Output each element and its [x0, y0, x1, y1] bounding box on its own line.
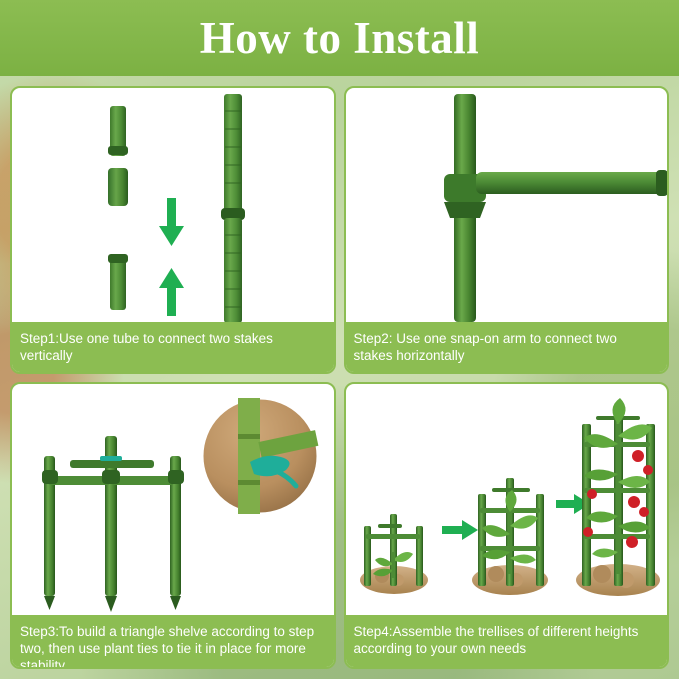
horizontal-snap-on-arm: [476, 170, 668, 196]
down-arrow-icon: [159, 198, 184, 246]
magnifier-detail-icon: [202, 398, 318, 514]
plant-tie-icon: [100, 456, 122, 461]
connector-tube: [108, 168, 128, 206]
step1-illustration: [12, 88, 334, 322]
page-title: How to Install: [200, 16, 480, 61]
left-stake-upper: [108, 106, 128, 156]
step4-caption: Step4:Assemble the trellises of differen…: [346, 615, 668, 667]
left-stake-lower: [108, 254, 128, 310]
step-card-3: Step3:To build a triangle shelve accordi…: [10, 382, 336, 670]
step2-art-svg: [346, 88, 668, 322]
step2-caption: Step2: Use one snap-on arm to connect tw…: [346, 322, 668, 372]
step3-illustration: [12, 384, 334, 618]
poster-header: How to Install: [0, 0, 679, 76]
triangle-shelf-frame: [42, 436, 184, 612]
trellis-medium: [472, 478, 548, 595]
step2-illustration: [346, 88, 668, 322]
poster-root: How to Install: [0, 0, 679, 679]
up-arrow-icon: [159, 268, 184, 316]
step-card-2: Step2: Use one snap-on arm to connect tw…: [344, 86, 670, 374]
right-arrow-icon-1: [442, 520, 478, 540]
step4-illustration: [346, 384, 668, 618]
step1-caption: Step1:Use one tube to connect two stakes…: [12, 322, 334, 372]
assembled-stake: [221, 94, 245, 322]
trellis-tall: [576, 398, 660, 596]
step-card-1: Step1:Use one tube to connect two stakes…: [10, 86, 336, 374]
step-card-4: Step4:Assemble the trellises of differen…: [344, 382, 670, 670]
step1-art-svg: [12, 88, 334, 322]
step3-art-svg: [12, 384, 334, 618]
step3-caption: Step3:To build a triangle shelve accordi…: [12, 615, 334, 667]
step4-art-svg: [346, 384, 668, 618]
trellis-small: [360, 514, 428, 594]
steps-grid: Step1:Use one tube to connect two stakes…: [10, 86, 669, 669]
